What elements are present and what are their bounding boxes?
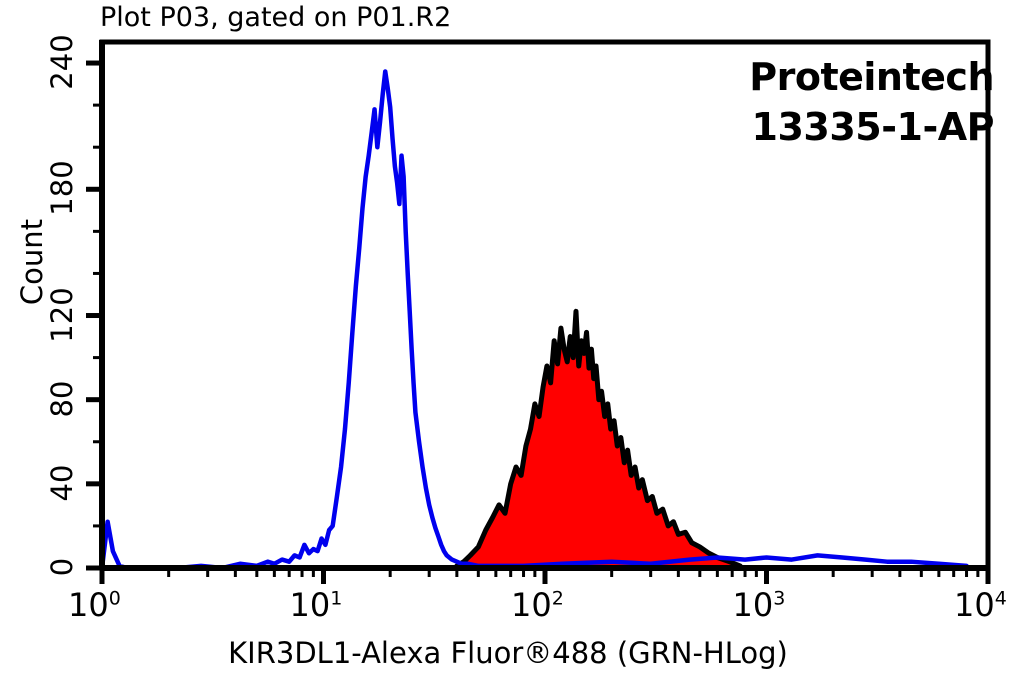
- series-sample-histogram: [457, 311, 740, 568]
- x-tick-exponent: 3: [773, 587, 785, 609]
- x-tick-exponent: 2: [552, 587, 564, 609]
- x-tick-mantissa: 10: [511, 586, 552, 624]
- x-tick-mantissa: 10: [290, 586, 331, 624]
- x-tick-mantissa: 10: [954, 586, 995, 624]
- x-tick-label: 104: [954, 586, 1007, 624]
- y-tick-label: 240: [45, 22, 79, 102]
- y-tick-label: 180: [45, 148, 79, 228]
- x-tick-mantissa: 10: [733, 586, 774, 624]
- x-tick-label: 100: [68, 586, 121, 624]
- y-tick-label: 40: [45, 443, 79, 523]
- y-tick-label: 80: [45, 359, 79, 439]
- flow-cytometry-plot: Plot P03, gated on P01.R2 Proteintech 13…: [0, 0, 1016, 683]
- x-tick-label: 101: [290, 586, 343, 624]
- x-tick-label: 103: [733, 586, 786, 624]
- x-tick-mantissa: 10: [68, 586, 109, 624]
- x-tick-exponent: 4: [995, 587, 1007, 609]
- x-tick-exponent: 1: [330, 587, 342, 609]
- chart-canvas: [0, 0, 1016, 683]
- x-tick-exponent: 0: [109, 587, 121, 609]
- x-tick-label: 102: [511, 586, 564, 624]
- y-tick-label: 120: [45, 275, 79, 355]
